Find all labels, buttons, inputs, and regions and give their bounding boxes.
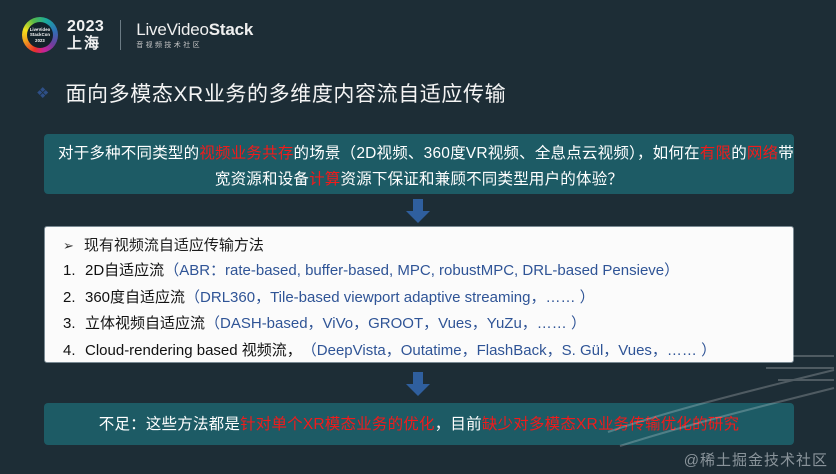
list-item: 4. Cloud-rendering based 视频流， （DeepVista… — [63, 338, 793, 365]
list-item: 2. 360度自适应流 （DRL360，Tile-based viewport … — [63, 285, 793, 312]
methods-heading-text: 现有视频流自适应传输方法 — [84, 233, 264, 258]
question-text-2a: 宽资源和设备 — [215, 171, 309, 188]
page-title-text: 面向多模态XR业务的多维度内容流自适应传输 — [65, 78, 506, 108]
question-highlight-2: 有限 — [700, 145, 731, 162]
list-item-detail: （ABR：rate-based, buffer-based, MPC, robu… — [164, 258, 679, 285]
question-line-2: 宽资源和设备计算资源下保证和兼顾不同类型用户的体验？ — [58, 167, 780, 193]
down-arrow-icon-top — [405, 198, 431, 224]
conclusion-text-a: 不足：这些方法都是 — [99, 416, 240, 433]
livevideostack-circle-icon: LiveVideo StackCon 2023 — [22, 17, 58, 53]
question-text-1c: 的 — [731, 145, 747, 162]
conclusion-callout-box: 不足：这些方法都是针对单个XR模态业务的优化，目前缺少对多模态XR业务传输优化的… — [44, 403, 794, 445]
list-item-label: 360度自适应流 — [85, 285, 185, 312]
list-item: 3. 立体视频自适应流 （DASH-based，ViVo，GROOT，Vues，… — [63, 311, 793, 338]
conference-city: 上海 — [67, 36, 104, 52]
diamond-bullet-icon: ❖ — [36, 86, 49, 101]
list-item-number: 1. — [63, 258, 85, 285]
watermark-text: @稀土掘金技术社区 — [684, 449, 828, 470]
arrow-bullet-icon: ➢ — [63, 233, 74, 258]
list-item-label: 2D自适应流 — [85, 258, 164, 285]
list-item-number: 3. — [63, 311, 85, 338]
logo-badge-line-3: 2023 — [35, 38, 45, 43]
list-item-number: 2. — [63, 285, 85, 312]
question-highlight-3: 网络 — [747, 145, 778, 162]
slide-header: LiveVideo StackCon 2023 2023 上海 LiveVide… — [0, 0, 836, 68]
list-item-detail: （DRL360，Tile-based viewport adaptive str… — [185, 285, 595, 312]
list-item-detail: （DeepVista，Outatime，FlashBack，S. Gül，Vue… — [302, 338, 716, 365]
question-line-1: 对于多种不同类型的视频业务共存的场景（2D视频、360度VR视频、全息点云视频）… — [58, 141, 780, 167]
conclusion-highlight-1: 针对单个XR模态业务的优化 — [240, 416, 435, 433]
list-item: 1. 2D自适应流 （ABR：rate-based, buffer-based,… — [63, 258, 793, 285]
list-item-number: 4. — [63, 338, 85, 365]
methods-list: 1. 2D自适应流 （ABR：rate-based, buffer-based,… — [45, 258, 793, 364]
conference-edition: 2023 上海 — [67, 19, 104, 52]
conference-logo: LiveVideo StackCon 2023 2023 上海 LiveVide… — [22, 16, 253, 54]
logo-divider — [120, 20, 121, 50]
conclusion-text-b: ，目前 — [435, 416, 482, 433]
methods-heading: ➢ 现有视频流自适应传输方法 — [45, 233, 793, 258]
down-arrow-icon-bottom — [405, 371, 431, 397]
brand-name-light: LiveVideo — [136, 20, 209, 39]
conference-year: 2023 — [67, 19, 104, 36]
question-text-1b: 的场景（2D视频、360度VR视频、全息点云视频），如何在 — [294, 145, 700, 162]
brand-logotype: LiveVideoStack 音视频技术社区 — [136, 21, 253, 49]
list-item-detail: （DASH-based，ViVo，GROOT，Vues，YuZu，…… ） — [205, 311, 586, 338]
question-text-1d: 带 — [778, 145, 794, 162]
question-highlight-1: 视频业务共存 — [199, 145, 293, 162]
list-item-label: Cloud-rendering based 视频流， — [85, 338, 302, 365]
conclusion-highlight-2: 缺少对多模态XR业务传输优化的研究 — [482, 416, 739, 433]
page-title: ❖ 面向多模态XR业务的多维度内容流自适应传输 — [36, 78, 506, 108]
list-item-label: 立体视频自适应流 — [85, 311, 205, 338]
question-text-1a: 对于多种不同类型的 — [58, 145, 199, 162]
slide: LiveVideo StackCon 2023 2023 上海 LiveVide… — [0, 0, 836, 474]
brand-name-bold: Stack — [209, 20, 253, 39]
question-callout-box: 对于多种不同类型的视频业务共存的场景（2D视频、360度VR视频、全息点云视频）… — [44, 134, 794, 194]
conclusion-line: 不足：这些方法都是针对单个XR模态业务的优化，目前缺少对多模态XR业务传输优化的… — [58, 412, 780, 438]
question-highlight-4: 计算 — [309, 171, 340, 188]
existing-methods-box: ➢ 现有视频流自适应传输方法 1. 2D自适应流 （ABR：rate-based… — [44, 226, 794, 363]
question-text-2b: 资源下保证和兼顾不同类型用户的体验？ — [341, 171, 624, 188]
brand-tagline: 音视频技术社区 — [136, 42, 253, 49]
